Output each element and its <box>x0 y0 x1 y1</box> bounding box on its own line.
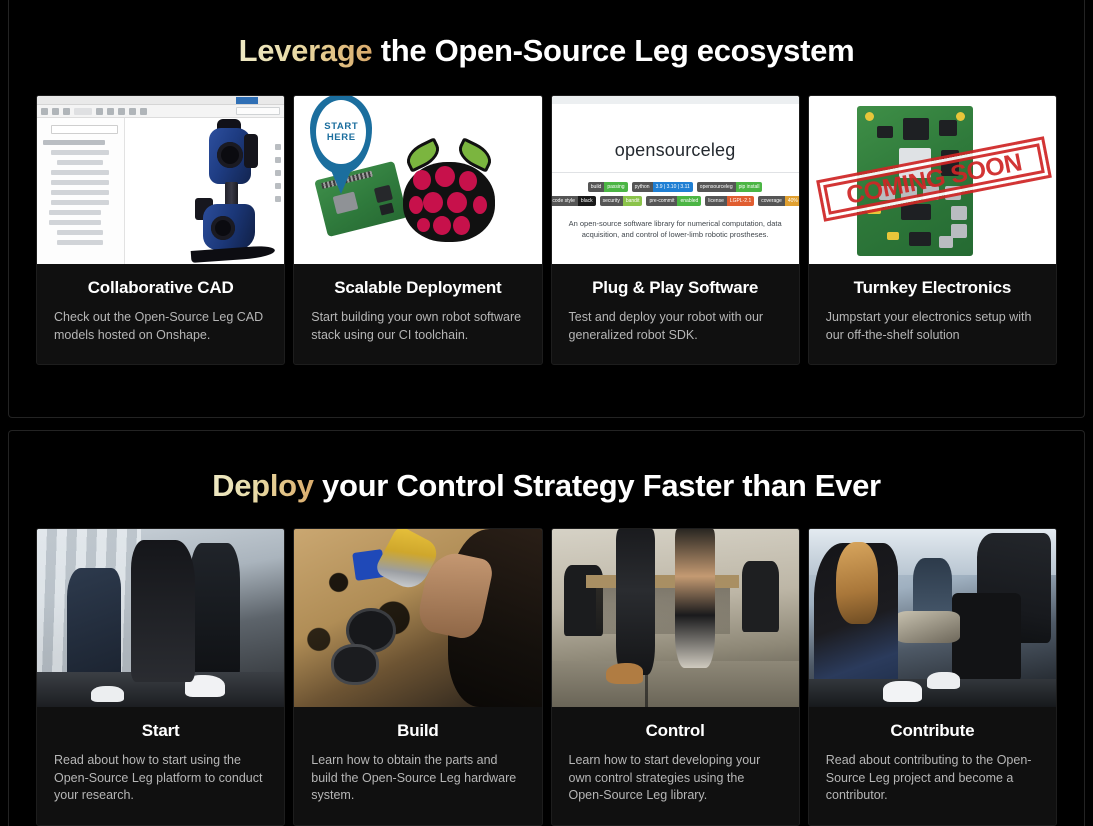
deploy-card-grid: Start Read about how to start using the … <box>9 528 1084 826</box>
raspberry-berry-icon <box>403 162 495 242</box>
cad-tool-icon <box>118 108 125 115</box>
badge-code-style: code style black <box>552 196 596 206</box>
cad-titlebar <box>37 96 284 105</box>
badge-row: code style black security bandit pre-com… <box>552 196 799 206</box>
badge-value: 3.9 | 3.10 | 3.11 <box>653 182 693 192</box>
cad-tool-icon <box>41 108 48 115</box>
pcb-connector <box>951 224 967 238</box>
pi-chip <box>379 203 394 216</box>
pin-line-2: HERE <box>327 132 356 143</box>
start-here-pin-label: START HERE <box>316 100 366 164</box>
berry-dot <box>409 196 423 214</box>
cad-tool-icon <box>52 108 59 115</box>
pcb-chip <box>939 120 957 136</box>
card-turnkey-electronics[interactable]: COMING SOON Turnkey Electronics Jumpstar… <box>808 95 1057 365</box>
pcb-connector <box>951 206 967 220</box>
badge-label: coverage <box>758 196 785 206</box>
team-fitting-prosthesis-photo <box>809 529 1056 707</box>
card-body: Build Learn how to obtain the parts and … <box>294 707 541 825</box>
readme-topbar <box>552 96 799 104</box>
photo-floor <box>552 661 799 707</box>
pcb-pad <box>865 112 874 121</box>
cad-feature-tree <box>37 118 125 264</box>
cad-tool-icon <box>63 108 70 115</box>
cad-toolbar <box>37 105 284 118</box>
readme-badges: build passing python 3.9 | 3.10 | 3.11 o… <box>552 182 799 206</box>
badge-license: license LGPL-2.1 <box>705 196 754 206</box>
card-description: Test and deploy your robot with our gene… <box>569 309 782 344</box>
electronics-board-coming-soon: COMING SOON <box>809 96 1056 264</box>
badge-label: build <box>588 182 605 192</box>
card-body: Collaborative CAD Check out the Open-Sou… <box>37 264 284 364</box>
cad-tree-row <box>51 170 109 175</box>
prosthetic-walking-lab-photo <box>552 529 799 707</box>
photo-image <box>37 529 284 707</box>
photo-actuator <box>334 647 376 683</box>
berry-dot <box>435 166 455 187</box>
badge-package: opensourceleg pip install <box>697 182 763 192</box>
badge-coverage: coverage 40% <box>758 196 798 206</box>
deploy-section: Deploy your Control Strategy Faster than… <box>8 430 1085 826</box>
card-description: Read about how to start using the Open-S… <box>54 752 267 805</box>
cad-tool-icon <box>96 108 103 115</box>
photo-desk <box>586 575 739 587</box>
card-body: Turnkey Electronics Jumpstart your elect… <box>809 264 1056 364</box>
leg-foot-blade <box>190 245 275 263</box>
badge-value: passing <box>604 182 627 192</box>
photo-prosthetic-leg <box>616 529 656 675</box>
card-body: Plug & Play Software Test and deploy you… <box>552 264 799 364</box>
card-title: Build <box>311 721 524 741</box>
card-body: Start Read about how to start using the … <box>37 707 284 825</box>
badge-label: license <box>705 196 727 206</box>
pcb-chip <box>901 204 931 220</box>
cad-tool-icon <box>129 108 136 115</box>
card-title: Start <box>54 721 267 741</box>
card-contribute[interactable]: Contribute Read about contributing to th… <box>808 528 1057 826</box>
card-body: Scalable Deployment Start building your … <box>294 264 541 364</box>
photo-image <box>809 529 1056 707</box>
badge-label: security <box>600 196 623 206</box>
card-description: Read about contributing to the Open-Sour… <box>826 752 1039 805</box>
photo-figure <box>67 568 121 678</box>
cad-viewport <box>125 118 284 264</box>
card-control[interactable]: Control Learn how to start developing yo… <box>551 528 800 826</box>
readme-title: opensourceleg <box>552 140 799 161</box>
badge-value: bandit <box>623 196 643 206</box>
ecosystem-heading: Leverage the Open-Source Leg ecosystem <box>9 0 1084 95</box>
card-description: Learn how to obtain the parts and build … <box>311 752 524 805</box>
badge-label: pre-commit <box>646 196 677 206</box>
photo-shoe <box>927 672 959 690</box>
pcb-connector <box>939 236 953 248</box>
cad-tree-row <box>51 190 109 195</box>
pin-line-1: START <box>324 121 358 132</box>
card-title: Contribute <box>826 721 1039 741</box>
photo-chair <box>952 593 1021 682</box>
cad-tree-row <box>57 240 103 245</box>
card-collaborative-cad[interactable]: Collaborative CAD Check out the Open-Sou… <box>36 95 285 365</box>
berry-dot <box>417 218 430 232</box>
badge-label: opensourceleg <box>697 182 736 192</box>
photo-prosthesis <box>895 611 959 643</box>
card-title: Plug & Play Software <box>569 278 782 298</box>
card-scalable-deployment[interactable]: START HERE Scalable Deployment Start bui… <box>293 95 542 365</box>
cad-tool-icon <box>140 108 147 115</box>
badge-value: black <box>578 196 596 206</box>
photo-actuator <box>349 611 394 650</box>
card-title: Turnkey Electronics <box>826 278 1039 298</box>
card-start[interactable]: Start Read about how to start using the … <box>36 528 285 826</box>
badge-label: code style <box>552 196 578 206</box>
badge-label: python <box>632 182 653 192</box>
photo-shoe <box>91 686 123 702</box>
deploy-heading: Deploy your Control Strategy Faster than… <box>9 431 1084 528</box>
start-here-map-pin: START HERE <box>310 96 372 174</box>
cad-insert-button <box>74 108 92 115</box>
berry-dot <box>473 196 487 214</box>
heading-rest: the Open-Source Leg ecosystem <box>372 33 854 68</box>
ecosystem-card-grid: Collaborative CAD Check out the Open-Sou… <box>9 95 1084 365</box>
badge-value: pip install <box>736 182 763 192</box>
heading-accent-word: Leverage <box>239 33 373 68</box>
cad-tree-row <box>57 230 103 235</box>
heading-rest: your Control Strategy Faster than Ever <box>314 468 881 503</box>
cad-tree-row <box>51 180 109 185</box>
cad-tree-row <box>43 140 105 145</box>
card-description: Learn how to start developing your own c… <box>569 752 782 805</box>
badge-pre-commit: pre-commit enabled <box>646 196 701 206</box>
leg-ankle-actuator <box>203 204 255 250</box>
cad-tree-row <box>51 150 109 155</box>
card-title: Control <box>569 721 782 741</box>
badge-security: security bandit <box>600 196 643 206</box>
badge-python: python 3.9 | 3.10 | 3.11 <box>632 182 693 192</box>
onshape-cad-screenshot <box>37 96 284 264</box>
heading-accent-word: Deploy <box>212 468 314 503</box>
card-body: Contribute Read about contributing to th… <box>809 707 1056 825</box>
cad-tree-search <box>51 125 118 134</box>
photo-floor <box>37 672 284 708</box>
pcb-chip <box>877 126 893 138</box>
raspberry-pi-start-here: START HERE <box>294 96 541 264</box>
badge-value: 40% <box>785 196 799 206</box>
workbench-assembly-photo <box>294 529 541 707</box>
photo-shoe <box>883 681 923 702</box>
cad-tree-row <box>49 220 101 225</box>
berry-dot <box>433 216 451 235</box>
card-body: Control Learn how to start developing yo… <box>552 707 799 825</box>
readme-divider <box>552 172 799 173</box>
leg-knee-actuator <box>209 128 251 184</box>
card-description: Start building your own robot software s… <box>311 309 524 344</box>
photo-shoe <box>185 675 225 696</box>
pcb-pad <box>956 112 965 121</box>
raspberry-pi-board <box>314 161 408 237</box>
photo-figure <box>190 543 239 682</box>
card-description: Jumpstart your electronics setup with ou… <box>826 309 1039 344</box>
cad-tree-row <box>57 160 103 165</box>
cad-tree-row <box>49 210 101 215</box>
photo-image <box>552 529 799 707</box>
badge-value: enabled <box>677 196 701 206</box>
researcher-treadmill-lab-photo <box>37 529 284 707</box>
cad-tree-row <box>51 200 109 205</box>
opensourceleg-readme: opensourceleg build passing python 3.9 |… <box>552 96 799 264</box>
pi-chip <box>374 185 393 203</box>
card-title: Scalable Deployment <box>311 278 524 298</box>
berry-dot <box>423 192 443 213</box>
badge-build: build passing <box>588 182 628 192</box>
photo-chair <box>742 561 779 632</box>
card-description: Check out the Open-Source Leg CAD models… <box>54 309 267 344</box>
berry-dot <box>413 170 431 190</box>
card-build[interactable]: Build Learn how to obtain the parts and … <box>293 528 542 826</box>
pcb-chip <box>909 232 931 246</box>
photo-person-leg <box>675 529 715 668</box>
cad-search-field <box>236 107 280 115</box>
ecosystem-section: Leverage the Open-Source Leg ecosystem <box>8 0 1085 418</box>
landing-page: Leverage the Open-Source Leg ecosystem <box>0 0 1093 826</box>
badge-row: build passing python 3.9 | 3.10 | 3.11 o… <box>588 182 763 192</box>
raspberry-pi-logo <box>397 140 501 248</box>
berry-dot <box>447 192 467 213</box>
readme-description: An open-source software library for nume… <box>566 218 785 240</box>
berry-dot <box>459 171 477 191</box>
pcb-chip <box>903 118 929 140</box>
card-plug-and-play-software[interactable]: opensourceleg build passing python 3.9 |… <box>551 95 800 365</box>
pcb-terminal <box>887 232 899 240</box>
cad-tool-icon <box>107 108 114 115</box>
photo-image <box>294 529 541 707</box>
photo-hair <box>836 542 878 624</box>
badge-value: LGPL-2.1 <box>727 196 754 206</box>
berry-dot <box>453 216 470 235</box>
card-title: Collaborative CAD <box>54 278 267 298</box>
prosthetic-leg-model <box>187 126 279 264</box>
